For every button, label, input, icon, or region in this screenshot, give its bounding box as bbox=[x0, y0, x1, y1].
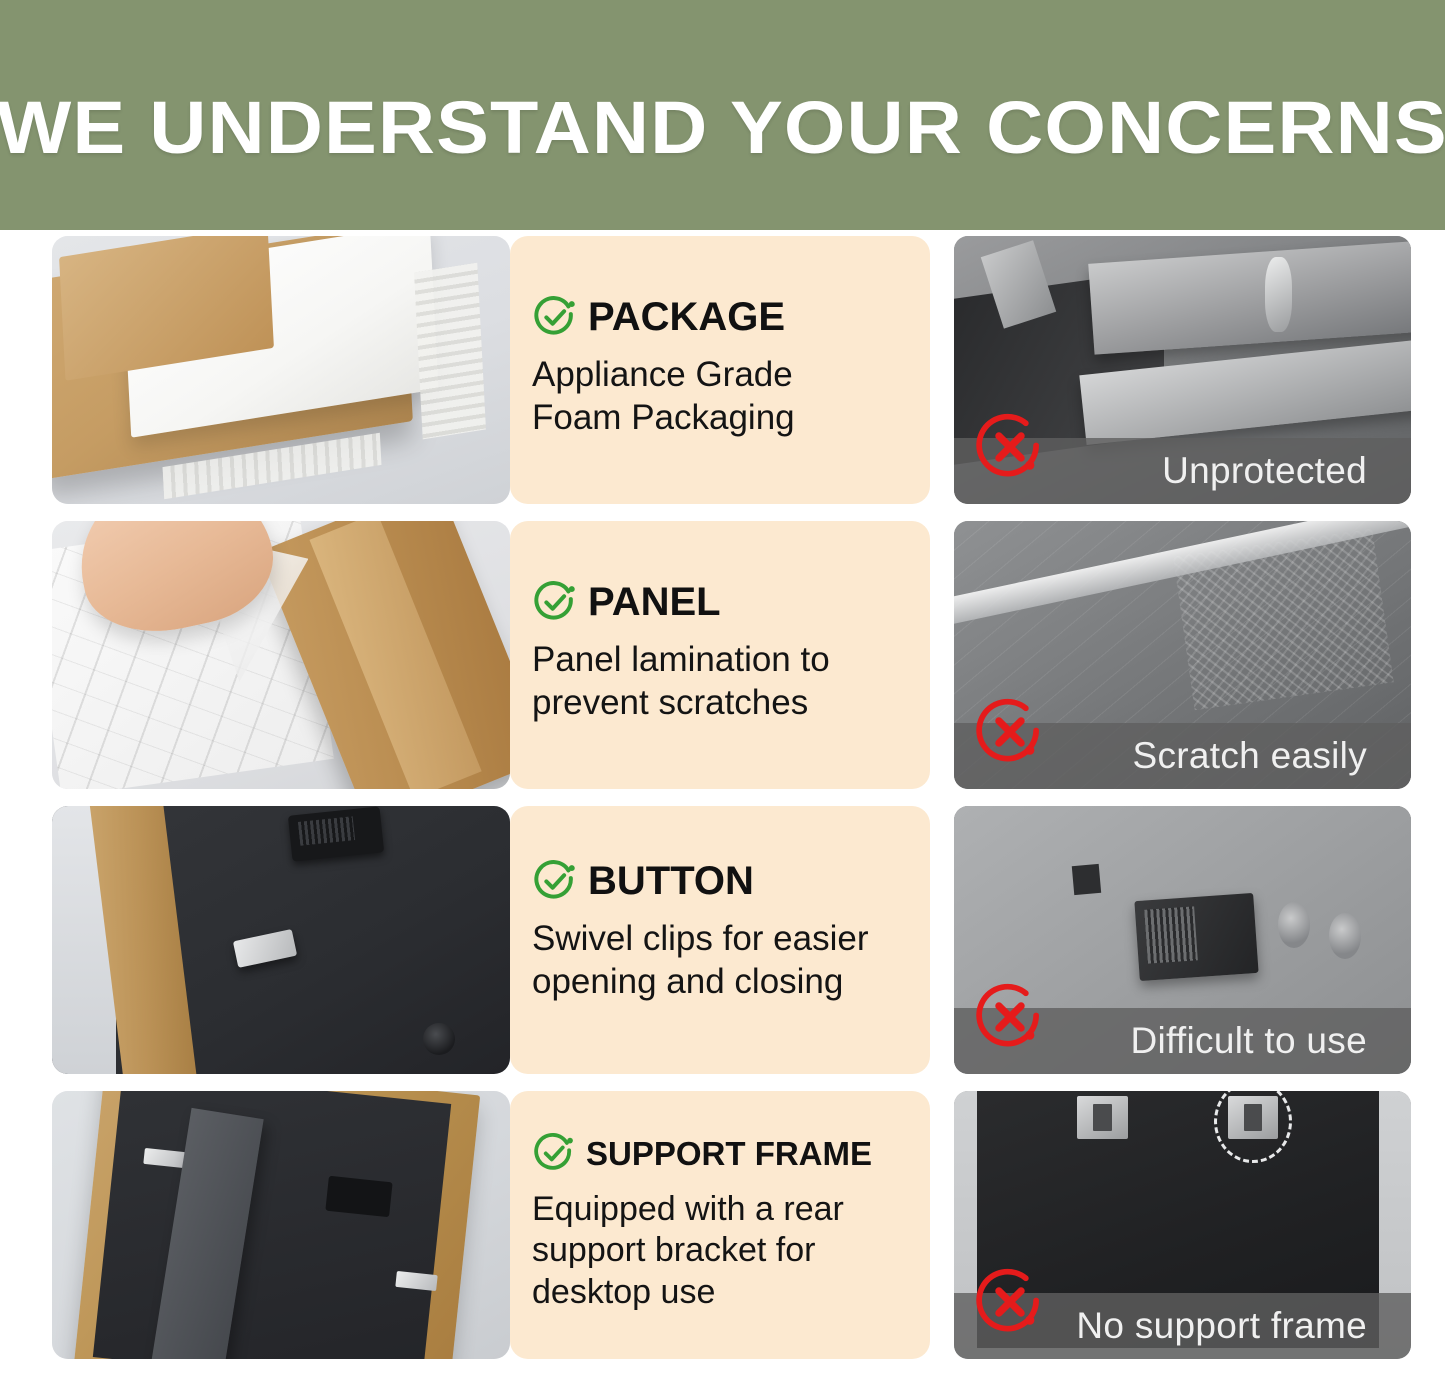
feature-description-line: Equipped with a rear bbox=[532, 1189, 930, 1230]
check-circle-icon bbox=[532, 858, 578, 904]
feature-card-button: BUTTON Swivel clips for easier opening a… bbox=[510, 806, 930, 1074]
feature-description: Equipped with a rear support bracket for… bbox=[532, 1189, 930, 1313]
feature-comparison-list: PACKAGE Appliance Grade Foam Packaging U… bbox=[0, 230, 1445, 1373]
feature-description-line: prevent scratches bbox=[532, 682, 930, 725]
rear-support-bracket-photo bbox=[52, 1091, 510, 1359]
feature-card-heading: PACKAGE bbox=[532, 294, 930, 340]
scratched-panel-photo: Scratch easily bbox=[954, 521, 1411, 789]
feature-row-panel: PANEL Panel lamination to prevent scratc… bbox=[0, 521, 1445, 803]
feature-title: PANEL bbox=[588, 582, 721, 622]
feature-title: PACKAGE bbox=[588, 297, 785, 337]
panel-lamination-peel-photo bbox=[52, 521, 510, 789]
negative-label: Unprotected bbox=[1162, 450, 1367, 492]
header-banner: WE UNDERSTAND YOUR CONCERNS bbox=[0, 0, 1445, 230]
feature-card-heading: PANEL bbox=[532, 579, 930, 625]
feature-description-line: Appliance Grade bbox=[532, 354, 930, 397]
feature-description-line: Foam Packaging bbox=[532, 397, 930, 440]
check-circle-icon bbox=[532, 294, 578, 340]
negative-label: Difficult to use bbox=[1130, 1020, 1367, 1062]
page-title: WE UNDERSTAND YOUR CONCERNS bbox=[0, 61, 1445, 170]
feature-card-panel: PANEL Panel lamination to prevent scratc… bbox=[510, 521, 930, 789]
feature-card-heading: BUTTON bbox=[532, 858, 930, 904]
feature-card-package: PACKAGE Appliance Grade Foam Packaging bbox=[510, 236, 930, 504]
feature-card-support-frame: SUPPORT FRAME Equipped with a rear suppo… bbox=[510, 1091, 930, 1359]
feature-description-line: Panel lamination to bbox=[532, 639, 930, 682]
feature-row-button: BUTTON Swivel clips for easier opening a… bbox=[0, 806, 1445, 1088]
check-circle-icon bbox=[532, 579, 578, 625]
no-support-frame-photo: No support frame bbox=[954, 1091, 1411, 1359]
feature-description-line: opening and closing bbox=[532, 961, 930, 1004]
feature-row-package: PACKAGE Appliance Grade Foam Packaging U… bbox=[0, 236, 1445, 518]
feature-description-line: Swivel clips for easier bbox=[532, 918, 930, 961]
feature-title: BUTTON bbox=[588, 861, 754, 901]
feature-description: Swivel clips for easier opening and clos… bbox=[532, 918, 930, 1003]
feature-title: SUPPORT FRAME bbox=[586, 1137, 872, 1170]
negative-label: Scratch easily bbox=[1132, 735, 1367, 777]
feature-row-support-frame: SUPPORT FRAME Equipped with a rear suppo… bbox=[0, 1091, 1445, 1373]
feature-description: Appliance Grade Foam Packaging bbox=[532, 354, 930, 439]
x-circle-icon bbox=[972, 979, 1048, 1060]
feature-description: Panel lamination to prevent scratches bbox=[532, 639, 930, 724]
stiff-hinge-clip-photo: Difficult to use bbox=[954, 806, 1411, 1074]
x-circle-icon bbox=[972, 694, 1048, 775]
feature-description-line: support bracket for bbox=[532, 1230, 930, 1271]
feature-description-line: desktop use bbox=[532, 1272, 930, 1313]
unprotected-metal-frame-photo: Unprotected bbox=[954, 236, 1411, 504]
x-circle-icon bbox=[972, 409, 1048, 490]
negative-label: No support frame bbox=[1076, 1305, 1367, 1347]
check-circle-icon bbox=[532, 1131, 576, 1175]
feature-card-heading: SUPPORT FRAME bbox=[532, 1131, 930, 1175]
box-foam-packaging-photo bbox=[52, 236, 510, 504]
x-circle-icon bbox=[972, 1264, 1048, 1345]
swivel-clip-back-photo bbox=[52, 806, 510, 1074]
